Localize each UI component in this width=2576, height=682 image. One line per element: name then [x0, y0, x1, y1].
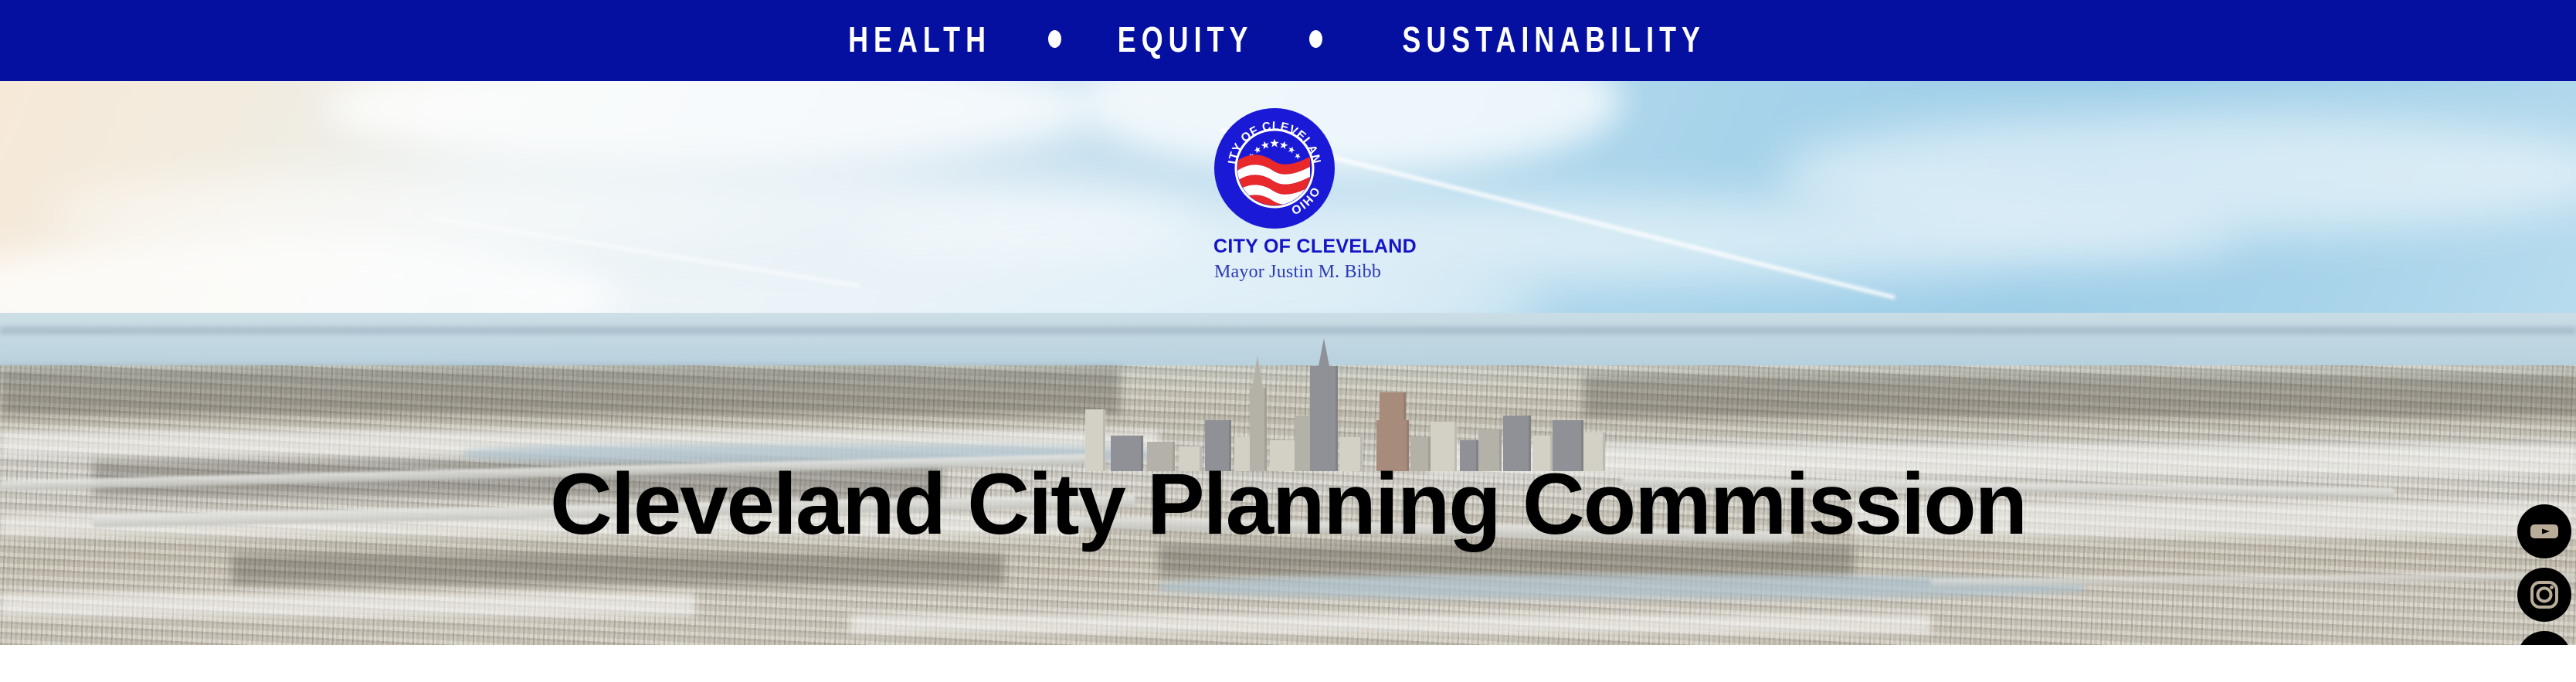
city-of-cleveland-seal-icon: CITY OF CLEVELAND OHIO: [1214, 108, 1335, 229]
snow-band: [0, 592, 695, 617]
social-media-rail: [2516, 504, 2573, 645]
downtown-skyline: [1074, 336, 1614, 471]
dot-separator-icon: [1048, 30, 1061, 48]
page-root: HEALTH EQUITY SUSTAINABILITY: [0, 0, 2576, 682]
tree-band: [1583, 375, 2576, 417]
terminal-tower-spire: [1252, 355, 1263, 388]
bottom-white-strip: [0, 645, 2576, 682]
youtube-icon: [2527, 514, 2561, 548]
top-banner: HEALTH EQUITY SUSTAINABILITY: [0, 0, 2576, 81]
key-tower-spire: [1319, 338, 1329, 366]
instagram-icon: [2528, 579, 2561, 611]
facebook-button[interactable]: [2517, 631, 2571, 645]
tree-band: [0, 368, 1120, 415]
top-banner-words: HEALTH EQUITY SUSTAINABILITY: [828, 22, 1749, 57]
logo-subtitle-mayor: Mayor Justin M. Bibb: [1214, 262, 1335, 283]
page-title: Cleveland City Planning Commission: [0, 461, 2576, 548]
far-shoreline: [0, 327, 2576, 334]
tree-band: [232, 554, 1004, 585]
dot-separator-icon: [1309, 30, 1322, 48]
hero-image: CITY OF CLEVELAND OHIO: [0, 81, 2576, 645]
banner-word-sustainability: SUSTAINABILITY: [1402, 22, 1705, 57]
youtube-button[interactable]: [2517, 504, 2571, 558]
banner-word-health: HEALTH: [848, 22, 991, 57]
city-logo-block[interactable]: CITY OF CLEVELAND OHIO: [1214, 108, 1335, 283]
banner-word-equity: EQUITY: [1118, 22, 1254, 57]
snow-band: [850, 614, 1931, 634]
instagram-button[interactable]: [2517, 568, 2571, 622]
logo-title: CITY OF CLEVELAND: [1213, 236, 1334, 258]
